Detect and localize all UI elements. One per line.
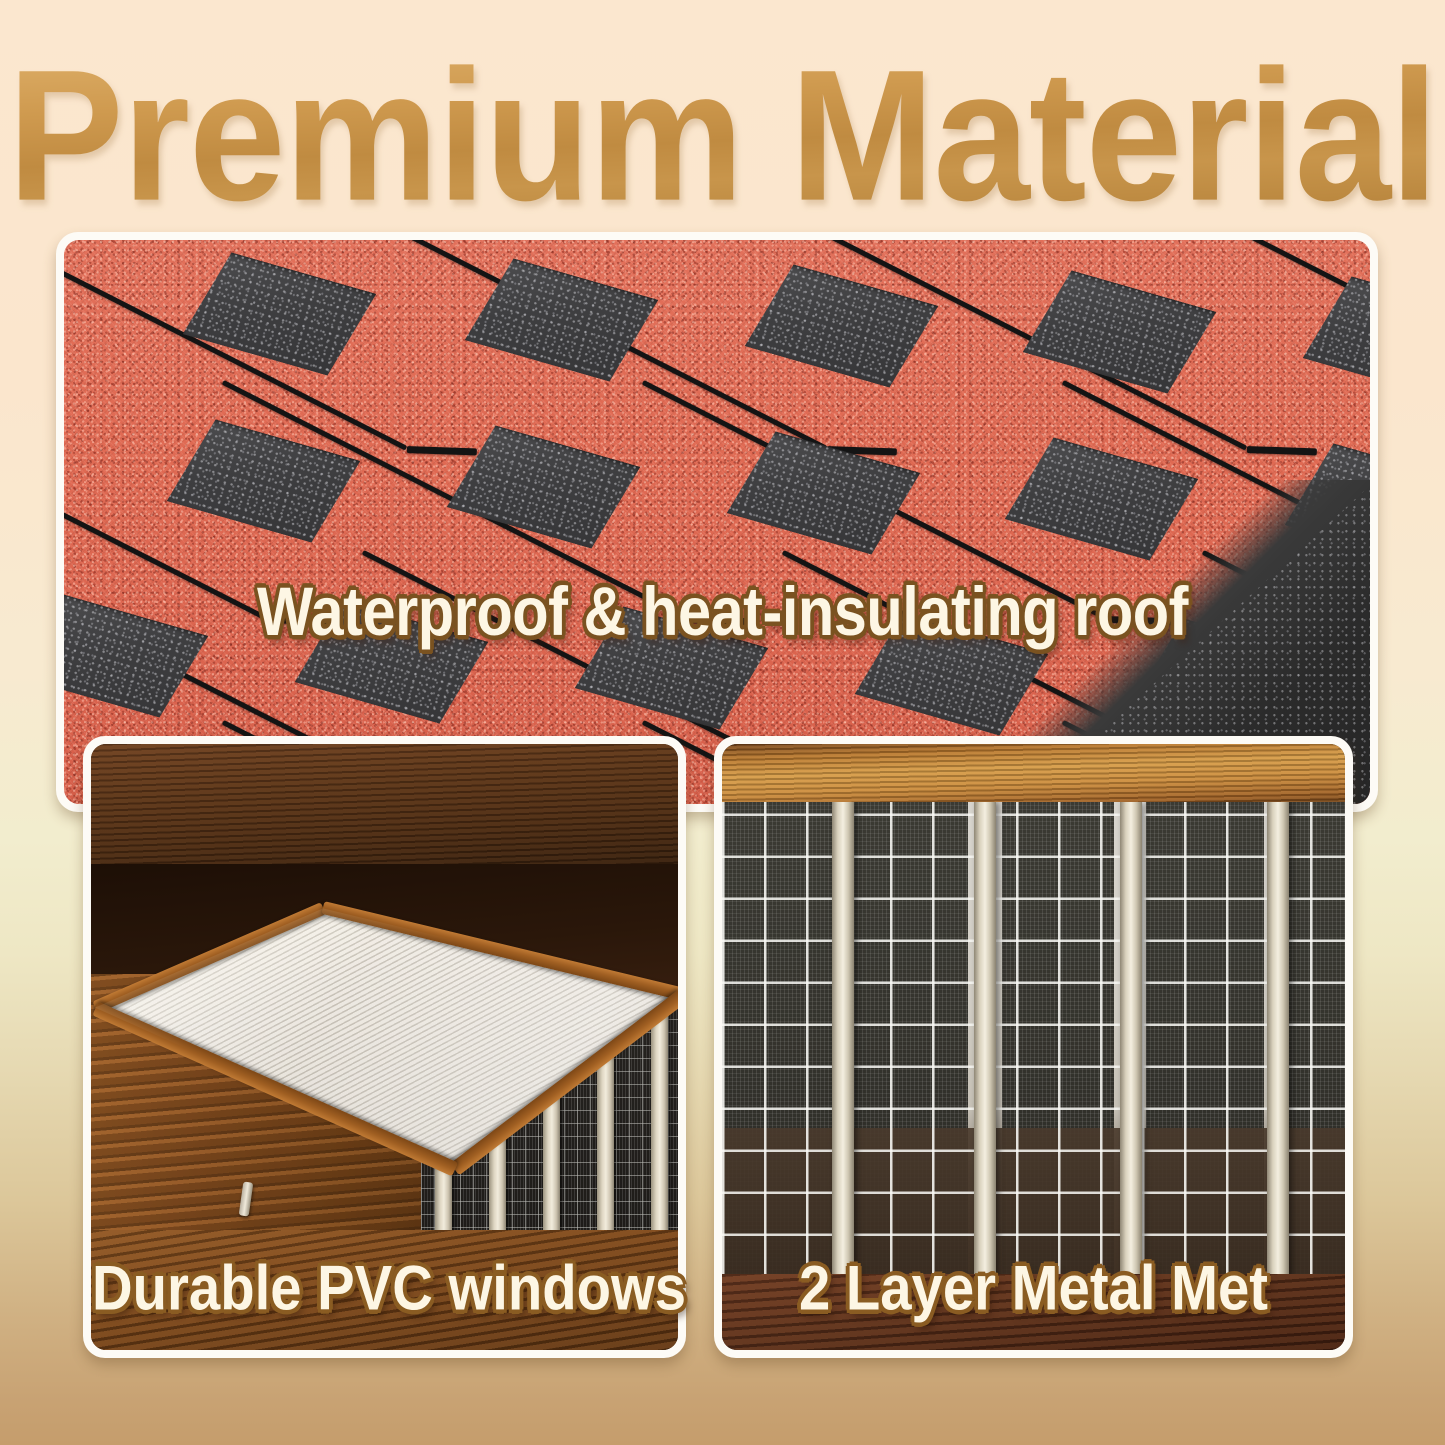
roof-shingle-tab xyxy=(465,252,659,389)
title-container: Premium Material xyxy=(0,46,1445,226)
page-title: Premium Material xyxy=(8,43,1437,230)
mesh-vertical-bar xyxy=(1120,802,1142,1278)
roof-shingle-tab xyxy=(727,425,921,562)
mesh-field xyxy=(722,802,1345,1278)
roof-shingle-tab xyxy=(447,419,641,556)
pvc-wood-frame xyxy=(91,896,678,1206)
roof-shingle-tab xyxy=(167,413,361,550)
pvc-wood-beam xyxy=(91,744,678,884)
mesh-vertical-bar xyxy=(974,802,996,1278)
roof-caption: Waterproof & heat-insulating roof xyxy=(29,573,1416,651)
roof-shingle-tab xyxy=(1303,270,1370,407)
mesh-vertical-bar xyxy=(1267,802,1289,1278)
mesh-wood-top-rail xyxy=(722,744,1345,806)
mesh-wire-grid-layer xyxy=(722,802,1345,1278)
roof-shingle-tab xyxy=(745,258,939,395)
roof-image xyxy=(64,240,1370,804)
roof-image-panel xyxy=(56,232,1378,812)
pvc-caption-wrap: Durable PVC windows xyxy=(92,1252,677,1324)
mesh-caption: 2 Layer Metal Met xyxy=(799,1253,1268,1323)
premium-material-poster: Premium Material Waterproof & heat-insul… xyxy=(0,0,1445,1445)
roof-shingle-tab xyxy=(1023,264,1217,401)
roof-shingle-tab xyxy=(183,246,377,383)
pvc-caption: Durable PVC windows xyxy=(92,1253,686,1323)
mesh-vertical-bar xyxy=(832,802,854,1278)
mesh-caption-wrap: 2 Layer Metal Met xyxy=(724,1252,1344,1324)
